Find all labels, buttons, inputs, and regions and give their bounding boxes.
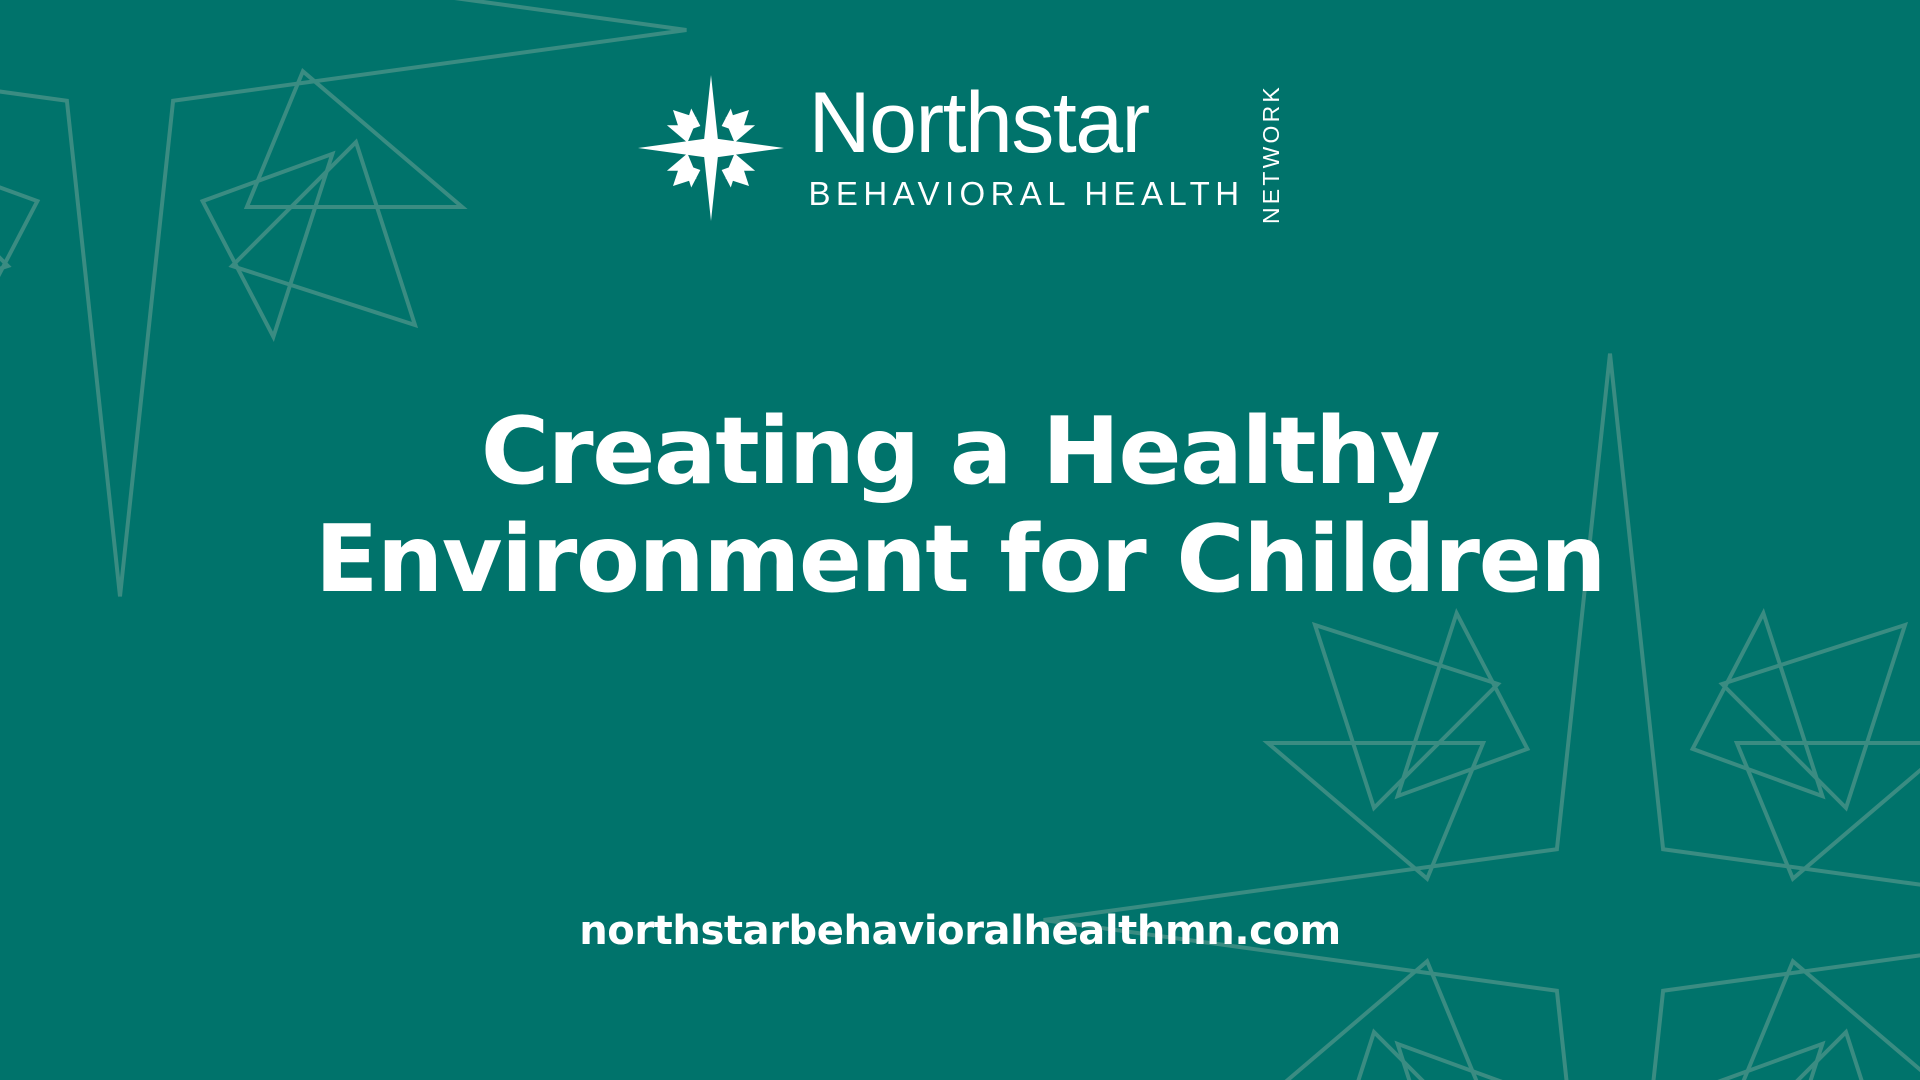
wordmark: Northstar BEHAVIORAL HEALTH NETWORK (809, 72, 1286, 224)
title-slide: Northstar BEHAVIORAL HEALTH NETWORK Crea… (0, 0, 1920, 1080)
headline: Creating a Healthy Environment for Child… (120, 398, 1800, 614)
headline-line-1: Creating a Healthy (120, 398, 1800, 506)
logo-lockup-inner: Northstar BEHAVIORAL HEALTH NETWORK (635, 72, 1286, 224)
website-url[interactable]: northstarbehavioralhealthmn.com (0, 908, 1920, 954)
brand-tagline: BEHAVIORAL HEALTH (809, 174, 1245, 214)
logo-lockup: Northstar BEHAVIORAL HEALTH NETWORK (0, 72, 1920, 252)
headline-line-2: Environment for Children (120, 506, 1800, 614)
brand-name: Northstar (809, 82, 1245, 165)
compass-rose-star-icon (635, 72, 787, 224)
wordmark-text: Northstar BEHAVIORAL HEALTH (809, 72, 1245, 224)
brand-network-label: NETWORK (1258, 76, 1285, 224)
